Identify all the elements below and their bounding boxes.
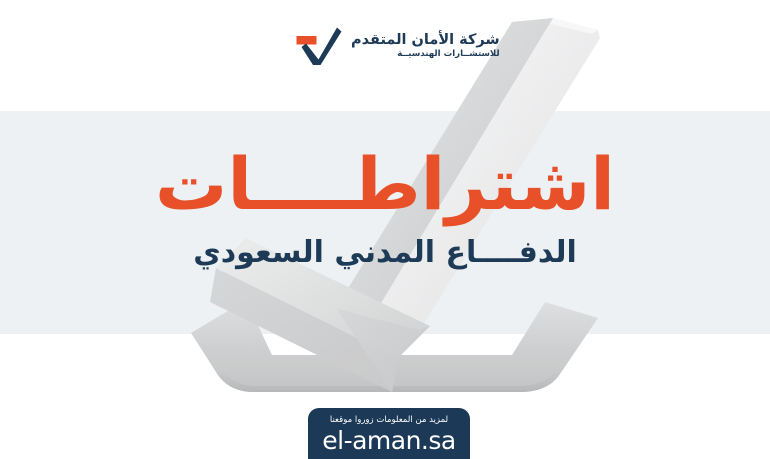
logo-company-name: شركة الأمان المتقدم — [351, 33, 500, 48]
website-banner[interactable]: لمزيد من المعلومات زوروا موقعنا el-aman.… — [308, 408, 470, 459]
logo-checkmark-icon — [296, 26, 342, 66]
website-banner-caption: لمزيد من المعلومات زوروا موقعنا — [330, 415, 448, 425]
logo-company-tagline: للاستشــارات الهندسيــة — [397, 50, 499, 59]
company-logo: شركة الأمان المتقدم للاستشــارات الهندسي… — [296, 26, 500, 66]
page-subtitle: الدفــــاع المدني السعودي — [0, 236, 770, 269]
logo-check-glyph — [302, 28, 342, 66]
page-title: اشتراطــــات — [0, 148, 770, 220]
headline-block: اشتراطــــات الدفــــاع المدني السعودي — [0, 148, 770, 269]
website-url[interactable]: el-aman.sa — [322, 426, 455, 455]
logo-orange-bar — [297, 36, 317, 45]
logo-text-block: شركة الأمان المتقدم للاستشــارات الهندسي… — [351, 33, 500, 59]
banner-canvas: شركة الأمان المتقدم للاستشــارات الهندسي… — [0, 0, 770, 459]
